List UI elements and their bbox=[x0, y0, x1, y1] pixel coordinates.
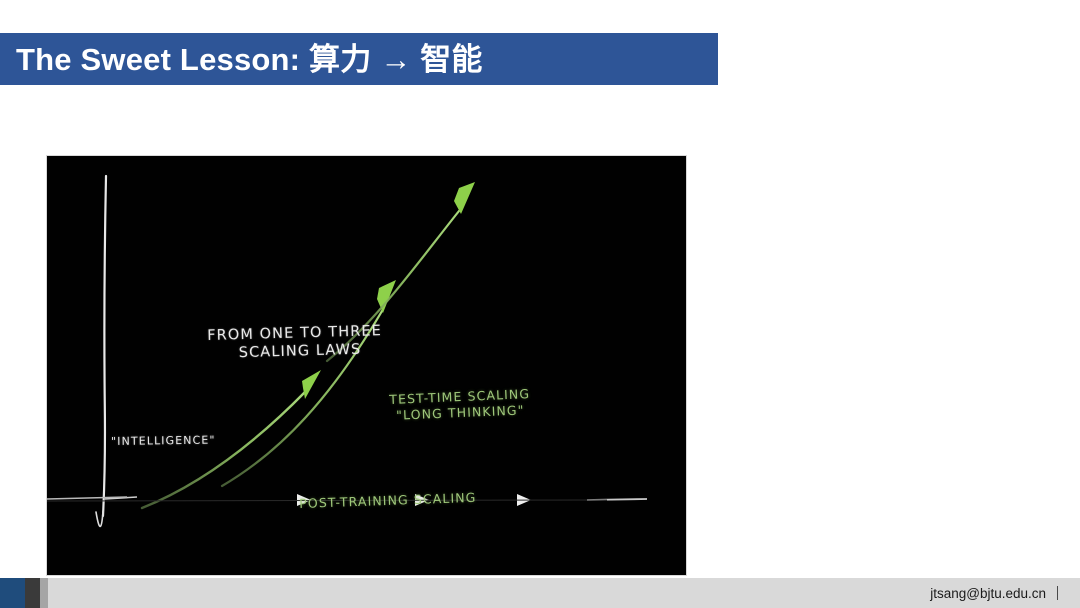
pre-training-curve bbox=[142, 392, 305, 508]
pre-training-arrowhead bbox=[302, 370, 321, 399]
figure-canvas: FROM ONE TO THREE SCALING LAWS "INTELLIG… bbox=[47, 156, 686, 575]
footer-bar: jtsang@bjtu.edu.cn bbox=[0, 578, 1080, 608]
footer-swatch-gray bbox=[40, 578, 48, 608]
footer-swatch-dark bbox=[25, 578, 40, 608]
slide-title-banner: The Sweet Lesson: 算力 → 智能 bbox=[0, 33, 718, 85]
y-axis-line bbox=[103, 176, 106, 516]
figure-vector-layer bbox=[47, 156, 686, 575]
footer-swatch-blue bbox=[0, 578, 25, 608]
y-axis-foot bbox=[96, 511, 103, 526]
footer-email: jtsang@bjtu.edu.cn bbox=[930, 578, 1046, 608]
page-title: The Sweet Lesson: 算力 → 智能 bbox=[16, 44, 483, 75]
test-time-scaling-label: TEST-TIME SCALING "LONG THINKING" bbox=[389, 386, 531, 423]
y-axis-label: "INTELLIGENCE" bbox=[111, 434, 216, 449]
footer-divider bbox=[1057, 586, 1058, 600]
scaling-laws-figure: FROM ONE TO THREE SCALING LAWS "INTELLIG… bbox=[47, 156, 686, 575]
figure-heading: FROM ONE TO THREE SCALING LAWS bbox=[207, 322, 383, 363]
test-time-arrowhead bbox=[454, 182, 475, 214]
